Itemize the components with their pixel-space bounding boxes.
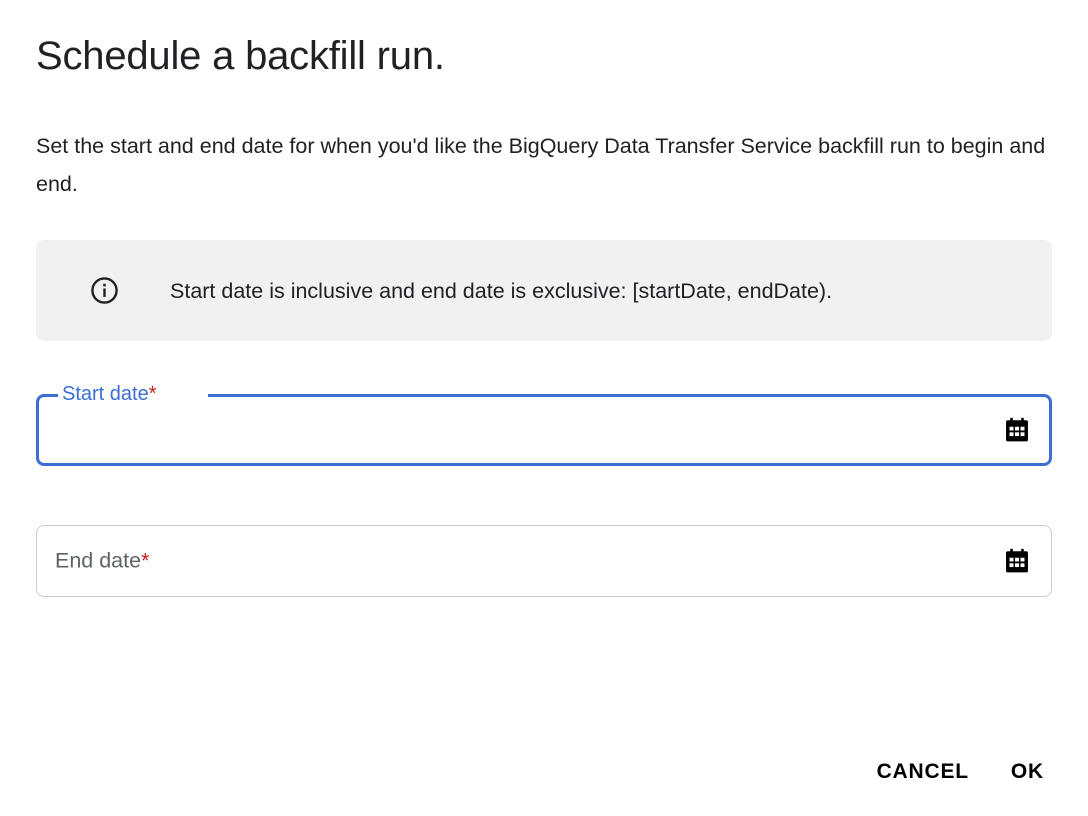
info-circle-icon [90, 276, 119, 305]
cancel-button[interactable]: CANCEL [863, 750, 983, 794]
end-date-outline [36, 525, 1052, 597]
start-date-field[interactable]: Start date* [36, 394, 1052, 466]
end-date-calendar-icon[interactable] [1003, 547, 1031, 575]
start-date-focus-outline [36, 394, 1052, 466]
start-date-label: Start date* [58, 381, 161, 407]
info-banner: Start date is inclusive and end date is … [36, 240, 1052, 341]
end-date-field[interactable]: End date* [36, 525, 1052, 597]
page-title: Schedule a backfill run. [36, 0, 1052, 82]
dialog-description: Set the start and end date for when you'… [36, 82, 1052, 203]
dialog-actions: CANCEL OK [863, 750, 1058, 794]
start-date-required-asterisk: * [149, 383, 157, 405]
start-date-label-text: Start date [62, 383, 149, 405]
end-date-placeholder: End date* [55, 549, 149, 574]
end-date-label-text: End date [55, 549, 141, 573]
schedule-backfill-dialog: Schedule a backfill run. Set the start a… [0, 0, 1088, 816]
start-date-calendar-icon[interactable] [1003, 416, 1031, 444]
ok-button[interactable]: OK [997, 750, 1058, 794]
end-date-required-asterisk: * [141, 549, 149, 573]
info-banner-text: Start date is inclusive and end date is … [170, 277, 832, 305]
